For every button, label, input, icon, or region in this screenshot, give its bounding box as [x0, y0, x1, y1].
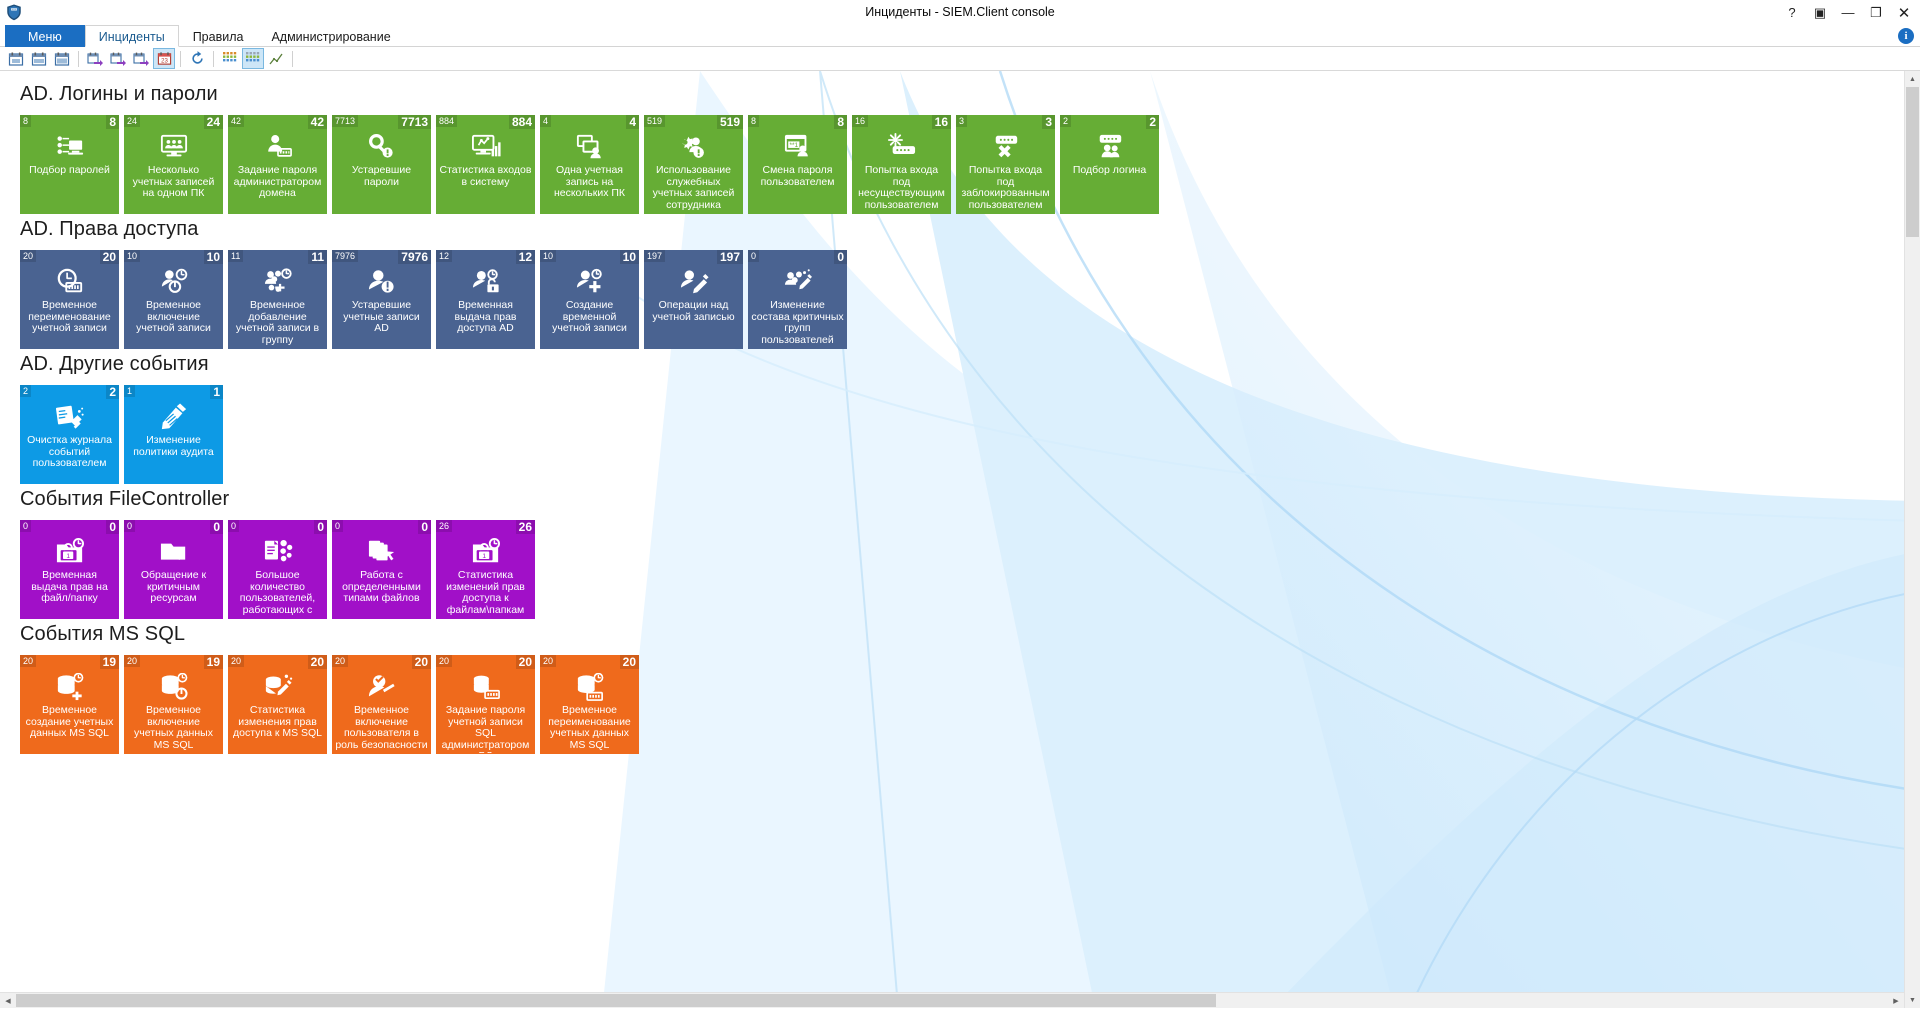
key-warning-icon [367, 133, 397, 161]
group-ad-logins-passwords: AD. Логины и пароли88Подбор паролей2424Н… [20, 83, 1920, 214]
temp-rights-icon [471, 268, 501, 296]
calendar-arrow-icon [87, 51, 103, 67]
tile-row: 2019Временное создание учетных данных MS… [20, 655, 1920, 754]
incident-tile[interactable]: 2020Задание пароля учетной записи SQL ад… [436, 655, 535, 754]
tile-count-right: 26 [516, 520, 535, 534]
tile-label: Временное добавление учетной записи в гр… [228, 300, 327, 346]
help-button[interactable]: ? [1778, 1, 1806, 25]
calendar-arrow-icon [110, 51, 126, 67]
sql-rights-stats-icon [263, 673, 293, 701]
sql-temp-create-icon [55, 673, 85, 701]
tile-count-right: 0 [418, 520, 431, 534]
calendar-icon [8, 51, 24, 67]
tile-label: Смена пароля пользователем [748, 165, 847, 188]
tile-count-left: 519 [644, 115, 665, 127]
incident-tile[interactable]: 2020Статистика изменения прав доступа к … [228, 655, 327, 754]
tile-count-right: 19 [100, 655, 119, 669]
refresh-button[interactable] [186, 48, 208, 69]
chart-line-icon [269, 52, 284, 66]
tile-count-right: 3 [1042, 115, 1055, 129]
tile-count-left: 16 [852, 115, 868, 127]
restore-layout-button[interactable]: ▣ [1806, 1, 1834, 25]
tile-label: Статистика изменения прав доступа к MS S… [228, 705, 327, 740]
window-title: Инциденты - SIEM.Client console [0, 0, 1920, 25]
incident-tile[interactable]: 79767976Устаревшие учетные записи AD [332, 250, 431, 349]
tile-count-right: 10 [620, 250, 639, 264]
tile-count-left: 8 [748, 115, 759, 127]
tile-label: Временная выдача прав доступа AD [436, 300, 535, 335]
tile-count-left: 0 [124, 520, 135, 532]
tile-label: Задание пароля учетной записи SQL админи… [436, 705, 535, 753]
login-bruteforce-icon [1095, 133, 1125, 161]
tile-count-left: 884 [436, 115, 457, 127]
calendar-pick-date-button[interactable]: 23 [153, 48, 175, 69]
calendar-next-day-button[interactable] [84, 48, 106, 69]
incident-tile[interactable]: 00Большое количество пользователей, рабо… [228, 520, 327, 619]
tile-count-right: 8 [834, 115, 847, 129]
file-rights-stats-icon: 1 [471, 538, 501, 566]
tile-count-right: 42 [308, 115, 327, 129]
tile-count-left: 1 [124, 385, 135, 397]
tile-count-right: 7976 [398, 250, 431, 264]
temp-account-create-icon [575, 268, 605, 296]
incident-tile[interactable]: 4242Задание пароля администратором домен… [228, 115, 327, 214]
calendar-23-icon: 23 [157, 51, 172, 66]
shield-logo-icon [3, 1, 25, 23]
calendar-icon [31, 51, 47, 67]
group-title: AD. Другие события [20, 353, 1920, 376]
tile-label: Статистика изменений прав доступа к файл… [436, 570, 535, 616]
tile-label: Большое количество пользователей, работа… [228, 570, 327, 616]
tile-count-left: 11 [228, 250, 243, 262]
grid-tiles-icon [246, 52, 261, 65]
many-users-file-icon [263, 538, 293, 566]
minimize-button[interactable]: — [1834, 1, 1862, 25]
tile-count-right: 16 [932, 115, 951, 129]
tile-label: Работа с определенными типами файлов [332, 570, 431, 605]
tile-count-left: 2 [1060, 115, 1071, 127]
tile-label: Статистика входов в систему [436, 165, 535, 188]
incident-tile[interactable]: 1010Создание временной учетной записи [540, 250, 639, 349]
tile-count-left: 20 [540, 655, 556, 667]
title-bar: Инциденты - SIEM.Client console ? ▣ — ❐ … [0, 0, 1920, 25]
scroll-up-arrow[interactable]: ▲ [1905, 71, 1920, 87]
incident-tile[interactable]: 88**1Смена пароля пользователем [748, 115, 847, 214]
tile-label: Изменение состава критичных групп пользо… [748, 300, 847, 346]
incident-tile[interactable]: 44Одна учетная запись на нескольких ПК [540, 115, 639, 214]
tile-count-right: 197 [717, 250, 743, 264]
tab-rules[interactable]: Правила [179, 25, 258, 47]
tile-label: Попытка входа под несуществующим пользов… [852, 165, 951, 211]
tile-label: Устаревшие учетные записи AD [332, 300, 431, 335]
incident-tile[interactable]: 1010Временное включение учетной записи [124, 250, 223, 349]
tile-count-left: 20 [436, 655, 452, 667]
group-filecontroller-events: События FileController001Временная выдач… [20, 488, 1920, 619]
admin-set-password-icon [263, 133, 293, 161]
incident-tile[interactable]: 2020Временное включение пользователя в р… [332, 655, 431, 754]
view-tiles-button[interactable] [242, 48, 264, 69]
tile-count-right: 884 [509, 115, 535, 129]
incident-tile[interactable]: 2020Временное переименование учетных дан… [540, 655, 639, 754]
logon-stats-icon [471, 133, 501, 161]
group-ms-sql-events: События MS SQL2019Временное создание уче… [20, 623, 1920, 754]
svg-text:1: 1 [482, 553, 486, 560]
sql-temp-enable-icon [159, 673, 189, 701]
incident-tile[interactable]: 001Временная выдача прав на файл/папку [20, 520, 119, 619]
tile-label: Одна учетная запись на нескольких ПК [540, 165, 639, 200]
tile-count-left: 20 [332, 655, 348, 667]
scroll-down-arrow[interactable]: ▼ [1905, 992, 1920, 1008]
incident-tile[interactable]: 2424Несколько учетных записей на одном П… [124, 115, 223, 214]
account-multi-pc-icon [575, 133, 605, 161]
tile-count-right: 20 [100, 250, 119, 264]
info-badge[interactable]: i [1898, 28, 1914, 44]
scroll-left-arrow[interactable]: ◀ [0, 993, 16, 1008]
tile-label: Временное переименование учетной записи [20, 300, 119, 335]
tile-count-left: 20 [228, 655, 244, 667]
svg-text:1: 1 [66, 553, 70, 560]
tile-count-right: 2 [1146, 115, 1159, 129]
incident-tile[interactable]: 2020Временное переименование учетной зап… [20, 250, 119, 349]
incident-tile[interactable]: 00Работа с определенными типами файлов [332, 520, 431, 619]
tile-count-right: 519 [717, 115, 743, 129]
tile-label: Устаревшие пароли [332, 165, 431, 188]
tile-count-left: 7713 [332, 115, 358, 127]
incident-tile[interactable]: 2019Временное создание учетных данных MS… [20, 655, 119, 754]
tile-count-left: 0 [332, 520, 343, 532]
tile-row: 2020Временное переименование учетной зап… [20, 250, 1920, 349]
svg-text:**1: **1 [789, 142, 798, 149]
incident-tile[interactable]: 11Изменение политики аудита [124, 385, 223, 484]
incident-tile[interactable]: 33Попытка входа под заблокированным поль… [956, 115, 1055, 214]
logon-nonexistent-icon [887, 133, 917, 161]
tile-count-right: 0 [834, 250, 847, 264]
group-title: События MS SQL [20, 623, 1920, 646]
tile-count-right: 20 [516, 655, 535, 669]
calendar-icon [54, 51, 70, 67]
tile-label: Временное включение учетной записи [124, 300, 223, 335]
calendar-day-button[interactable] [5, 48, 27, 69]
tile-label: Обращение к критичным ресурсам [124, 570, 223, 605]
group-title: AD. Логины и пароли [20, 83, 1920, 106]
maximize-button[interactable]: ❐ [1862, 1, 1890, 25]
critical-resource-icon [159, 538, 189, 566]
logon-blocked-icon [991, 133, 1021, 161]
incident-tile[interactable]: 77137713Устаревшие пароли [332, 115, 431, 214]
tile-count-left: 20 [124, 655, 140, 667]
tile-count-right: 11 [308, 250, 327, 264]
horizontal-scrollbar[interactable]: ◀ ▶ [0, 992, 1904, 1008]
toolbar: 23 [0, 47, 1920, 71]
calendar-month-button[interactable] [51, 48, 73, 69]
account-edit-icon [679, 268, 709, 296]
multi-accounts-pc-icon [159, 133, 189, 161]
tile-label: Очистка журнала событий пользователем [20, 435, 119, 470]
group-ad-other-events: AD. Другие события22Очистка журнала собы… [20, 353, 1920, 484]
window-controls: ? ▣ — ❐ ✕ [1778, 0, 1918, 25]
clear-log-icon [55, 403, 85, 431]
incident-tile[interactable]: 197197Операции над учетной записью [644, 250, 743, 349]
tile-count-right: 1 [210, 385, 223, 399]
tile-count-right: 24 [204, 115, 223, 129]
tile-count-left: 42 [228, 115, 244, 127]
tile-row: 88Подбор паролей2424Несколько учетных за… [20, 115, 1920, 214]
close-button[interactable]: ✕ [1890, 1, 1918, 25]
refresh-icon [189, 50, 206, 67]
view-chart-button[interactable] [265, 48, 287, 69]
tile-label: Попытка входа под заблокированным пользо… [956, 165, 1055, 211]
tile-count-left: 2 [20, 385, 31, 397]
stale-account-icon [367, 268, 397, 296]
incident-tile[interactable]: 2019Временное включение учетных данных M… [124, 655, 223, 754]
tile-count-right: 0 [210, 520, 223, 534]
tile-label: Подбор паролей [26, 165, 113, 177]
tile-count-right: 0 [106, 520, 119, 534]
ribbon-tabs: Меню Инциденты Правила Администрирование… [0, 25, 1920, 47]
incident-tile[interactable]: 22Очистка журнала событий пользователем [20, 385, 119, 484]
incident-tile[interactable]: 00Обращение к критичным ресурсам [124, 520, 223, 619]
tile-count-left: 12 [436, 250, 452, 262]
tile-label: Временная выдача прав на файл/папку [20, 570, 119, 605]
horizontal-scroll-thumb[interactable] [16, 994, 1216, 1007]
incident-tile[interactable]: 519519Использование служебных учетных за… [644, 115, 743, 214]
incident-tile[interactable]: 88Подбор паролей [20, 115, 119, 214]
tile-count-right: 4 [626, 115, 639, 129]
toolbar-separator [180, 51, 181, 67]
tile-count-right: 10 [204, 250, 223, 264]
tab-administration[interactable]: Администрирование [257, 25, 404, 47]
tile-label: Временное переименование учетных данных … [540, 705, 639, 751]
tile-count-left: 7976 [332, 250, 358, 262]
calendar-week-button[interactable] [28, 48, 50, 69]
incident-tile[interactable]: 26261Статистика изменений прав доступа к… [436, 520, 535, 619]
tiles-board: AD. Логины и пароли88Подбор паролей2424Н… [0, 71, 1920, 1008]
group-title: События FileController [20, 488, 1920, 511]
calendar-next-week-button[interactable] [107, 48, 129, 69]
tile-count-right: 20 [412, 655, 431, 669]
group-ad-access-rights: AD. Права доступа2020Временное переимено… [20, 218, 1920, 349]
tile-count-right: 8 [106, 115, 119, 129]
grid-small-icon [223, 52, 238, 65]
svg-text:23: 23 [161, 58, 168, 65]
temp-rename-icon [55, 268, 85, 296]
tile-count-left: 24 [124, 115, 140, 127]
tile-label: Подбор логина [1070, 165, 1149, 177]
tile-count-left: 0 [20, 520, 31, 532]
incident-tile[interactable]: 1111Временное добавление учетной записи … [228, 250, 327, 349]
tile-label: Операции над учетной записью [644, 300, 743, 323]
tile-count-left: 4 [540, 115, 551, 127]
toolbar-separator [78, 51, 79, 67]
tile-row: 001Временная выдача прав на файл/папку00… [20, 520, 1920, 619]
group-title: AD. Права доступа [20, 218, 1920, 241]
tile-count-left: 0 [228, 520, 239, 532]
tile-label: Временное включение пользователя в роль … [332, 705, 431, 751]
tile-count-right: 20 [308, 655, 327, 669]
sql-temp-rename-icon [575, 673, 605, 701]
tile-label: Временное включение учетных данных MS SQ… [124, 705, 223, 751]
incident-tile[interactable]: 1616Попытка входа под несуществующим пол… [852, 115, 951, 214]
tile-count-right: 12 [516, 250, 535, 264]
tile-count-right: 0 [314, 520, 327, 534]
password-change-icon: **1 [783, 133, 813, 161]
tile-count-left: 20 [20, 250, 36, 262]
tile-row: 22Очистка журнала событий пользователем1… [20, 385, 1920, 484]
incident-tile[interactable]: 884884Статистика входов в систему [436, 115, 535, 214]
file-types-icon [367, 538, 397, 566]
incident-tile[interactable]: 22Подбор логина [1060, 115, 1159, 214]
tile-count-right: 20 [620, 655, 639, 669]
tile-label: Задание пароля администратором домена [228, 165, 327, 200]
sql-set-password-icon [471, 673, 501, 701]
temp-group-add-icon [263, 268, 293, 296]
audit-policy-icon [159, 403, 189, 431]
tile-count-left: 3 [956, 115, 967, 127]
tile-label: Несколько учетных записей на одном ПК [124, 165, 223, 200]
tab-menu[interactable]: Меню [5, 25, 85, 47]
vertical-scrollbar[interactable]: ▲ ▼ [1904, 71, 1920, 1008]
tile-count-left: 10 [124, 250, 140, 262]
tile-label: Использование служебных учетных записей … [644, 165, 743, 211]
calendar-arrow-icon [133, 51, 149, 67]
toolbar-separator [292, 51, 293, 67]
tile-count-left: 20 [20, 655, 36, 667]
calendar-next-month-button[interactable] [130, 48, 152, 69]
content-area: AD. Логины и пароли88Подбор паролей2424Н… [0, 71, 1920, 1008]
tile-label: Создание временной учетной записи [540, 300, 639, 335]
tile-count-right: 2 [106, 385, 119, 399]
tile-count-left: 8 [20, 115, 31, 127]
critical-groups-icon [783, 268, 813, 296]
tile-count-left: 197 [644, 250, 665, 262]
service-account-icon [679, 133, 709, 161]
tile-count-right: 7713 [398, 115, 431, 129]
scroll-right-arrow[interactable]: ▶ [1888, 993, 1904, 1008]
toolbar-separator [213, 51, 214, 67]
tile-count-left: 10 [540, 250, 556, 262]
tile-count-left: 26 [436, 520, 452, 532]
tile-label: Временное создание учетных данных MS SQL [20, 705, 119, 740]
incident-tile[interactable]: 00Изменение состава критичных групп поль… [748, 250, 847, 349]
tile-label: Изменение политики аудита [124, 435, 223, 458]
tab-incidents[interactable]: Инциденты [85, 25, 179, 47]
view-list-button[interactable] [219, 48, 241, 69]
vertical-scroll-thumb[interactable] [1906, 87, 1919, 237]
tile-count-right: 19 [204, 655, 223, 669]
temp-enable-icon [159, 268, 189, 296]
incident-tile[interactable]: 1212Временная выдача прав доступа AD [436, 250, 535, 349]
temp-file-rights-icon: 1 [55, 538, 85, 566]
tile-count-left: 0 [748, 250, 759, 262]
password-bruteforce-icon [55, 133, 85, 161]
sql-role-icon [367, 673, 397, 701]
